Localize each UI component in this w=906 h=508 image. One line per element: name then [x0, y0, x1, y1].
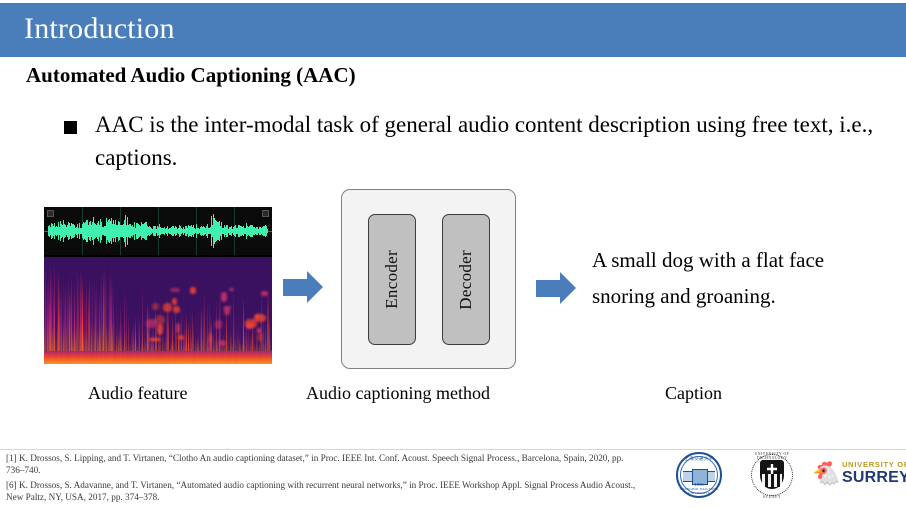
uts-crest-logo: UNIVERSITY OF TECHNOLOGY SYDNEY — [748, 451, 796, 499]
surrey-wordmark: UNIVERSITY OF SURREY — [842, 460, 906, 486]
spectrogram-low-band — [44, 351, 272, 364]
surrey-line-1: UNIVERSITY OF — [842, 460, 906, 469]
encoder-label: Encoder — [382, 250, 402, 309]
reference-item: [6] K. Drossos, S. Adavanne, and T. Virt… — [6, 479, 636, 504]
arrow-head — [560, 272, 576, 304]
crest-top-text: UNIVERSITY OF TECHNOLOGY — [748, 452, 796, 460]
arrow-head — [307, 271, 323, 303]
bullet-item: AAC is the inter-modal task of general a… — [64, 108, 884, 174]
audio-captioning-method-label: Audio captioning method — [306, 383, 490, 404]
decoder-label: Decoder — [456, 250, 476, 310]
audio-captioning-method-box: Encoder Decoder — [341, 189, 516, 369]
references-block: [1] K. Drossos, S. Lipping, and T. Virta… — [6, 452, 636, 506]
surrey-line-2: SURREY — [842, 469, 906, 486]
caption-line-2: snoring and groaning. — [592, 278, 892, 314]
seal-emblem — [683, 471, 715, 482]
waveform-panel — [44, 207, 272, 255]
seal-top-text: 上海交通大学 — [676, 456, 722, 462]
crest-shield-icon — [760, 460, 784, 489]
slide: Introduction Automated Audio Captioning … — [0, 0, 906, 508]
audio-feature-label: Audio feature — [88, 383, 187, 404]
crest-bottom-text: SYDNEY — [748, 495, 796, 499]
arrow-shaft — [536, 280, 561, 297]
spectrogram-panel — [44, 257, 272, 364]
right-arrow-icon — [536, 272, 577, 305]
university-of-surrey-logo: 🐔 UNIVERSITY OF SURREY — [812, 458, 904, 492]
encoder-box: Encoder — [368, 214, 416, 345]
waveform-spectrogram-image — [44, 207, 272, 364]
caption-output-text: A small dog with a flat face snoring and… — [592, 242, 892, 314]
page-title: Introduction — [24, 9, 175, 49]
section-heading: Automated Audio Captioning (AAC) — [26, 63, 356, 88]
caption-line-1: A small dog with a flat face — [592, 242, 892, 278]
stag-icon: 🐔 — [812, 461, 838, 487]
reference-item: [1] K. Drossos, S. Lipping, and T. Virta… — [6, 452, 636, 477]
caption-label: Caption — [665, 383, 722, 404]
crest-checker-band — [762, 474, 782, 487]
arrow-shaft — [283, 279, 308, 296]
logo-strip: 上海交通大学 1896 SHANGHAI JIAO TONG UNIVERSIT… — [676, 449, 902, 501]
bullet-text: AAC is the inter-modal task of general a… — [95, 108, 884, 174]
waveform-corner-marker — [262, 210, 269, 217]
square-bullet-icon — [64, 121, 77, 134]
crest-cross-icon — [767, 464, 777, 474]
right-arrow-icon — [283, 271, 324, 304]
decoder-box: Decoder — [442, 214, 490, 345]
seal-bottom-text: SHANGHAI JIAO TONG UNIVERSITY — [676, 487, 722, 495]
sjtu-seal-logo: 上海交通大学 1896 SHANGHAI JIAO TONG UNIVERSIT… — [676, 452, 722, 498]
waveform-corner-marker — [47, 210, 54, 217]
